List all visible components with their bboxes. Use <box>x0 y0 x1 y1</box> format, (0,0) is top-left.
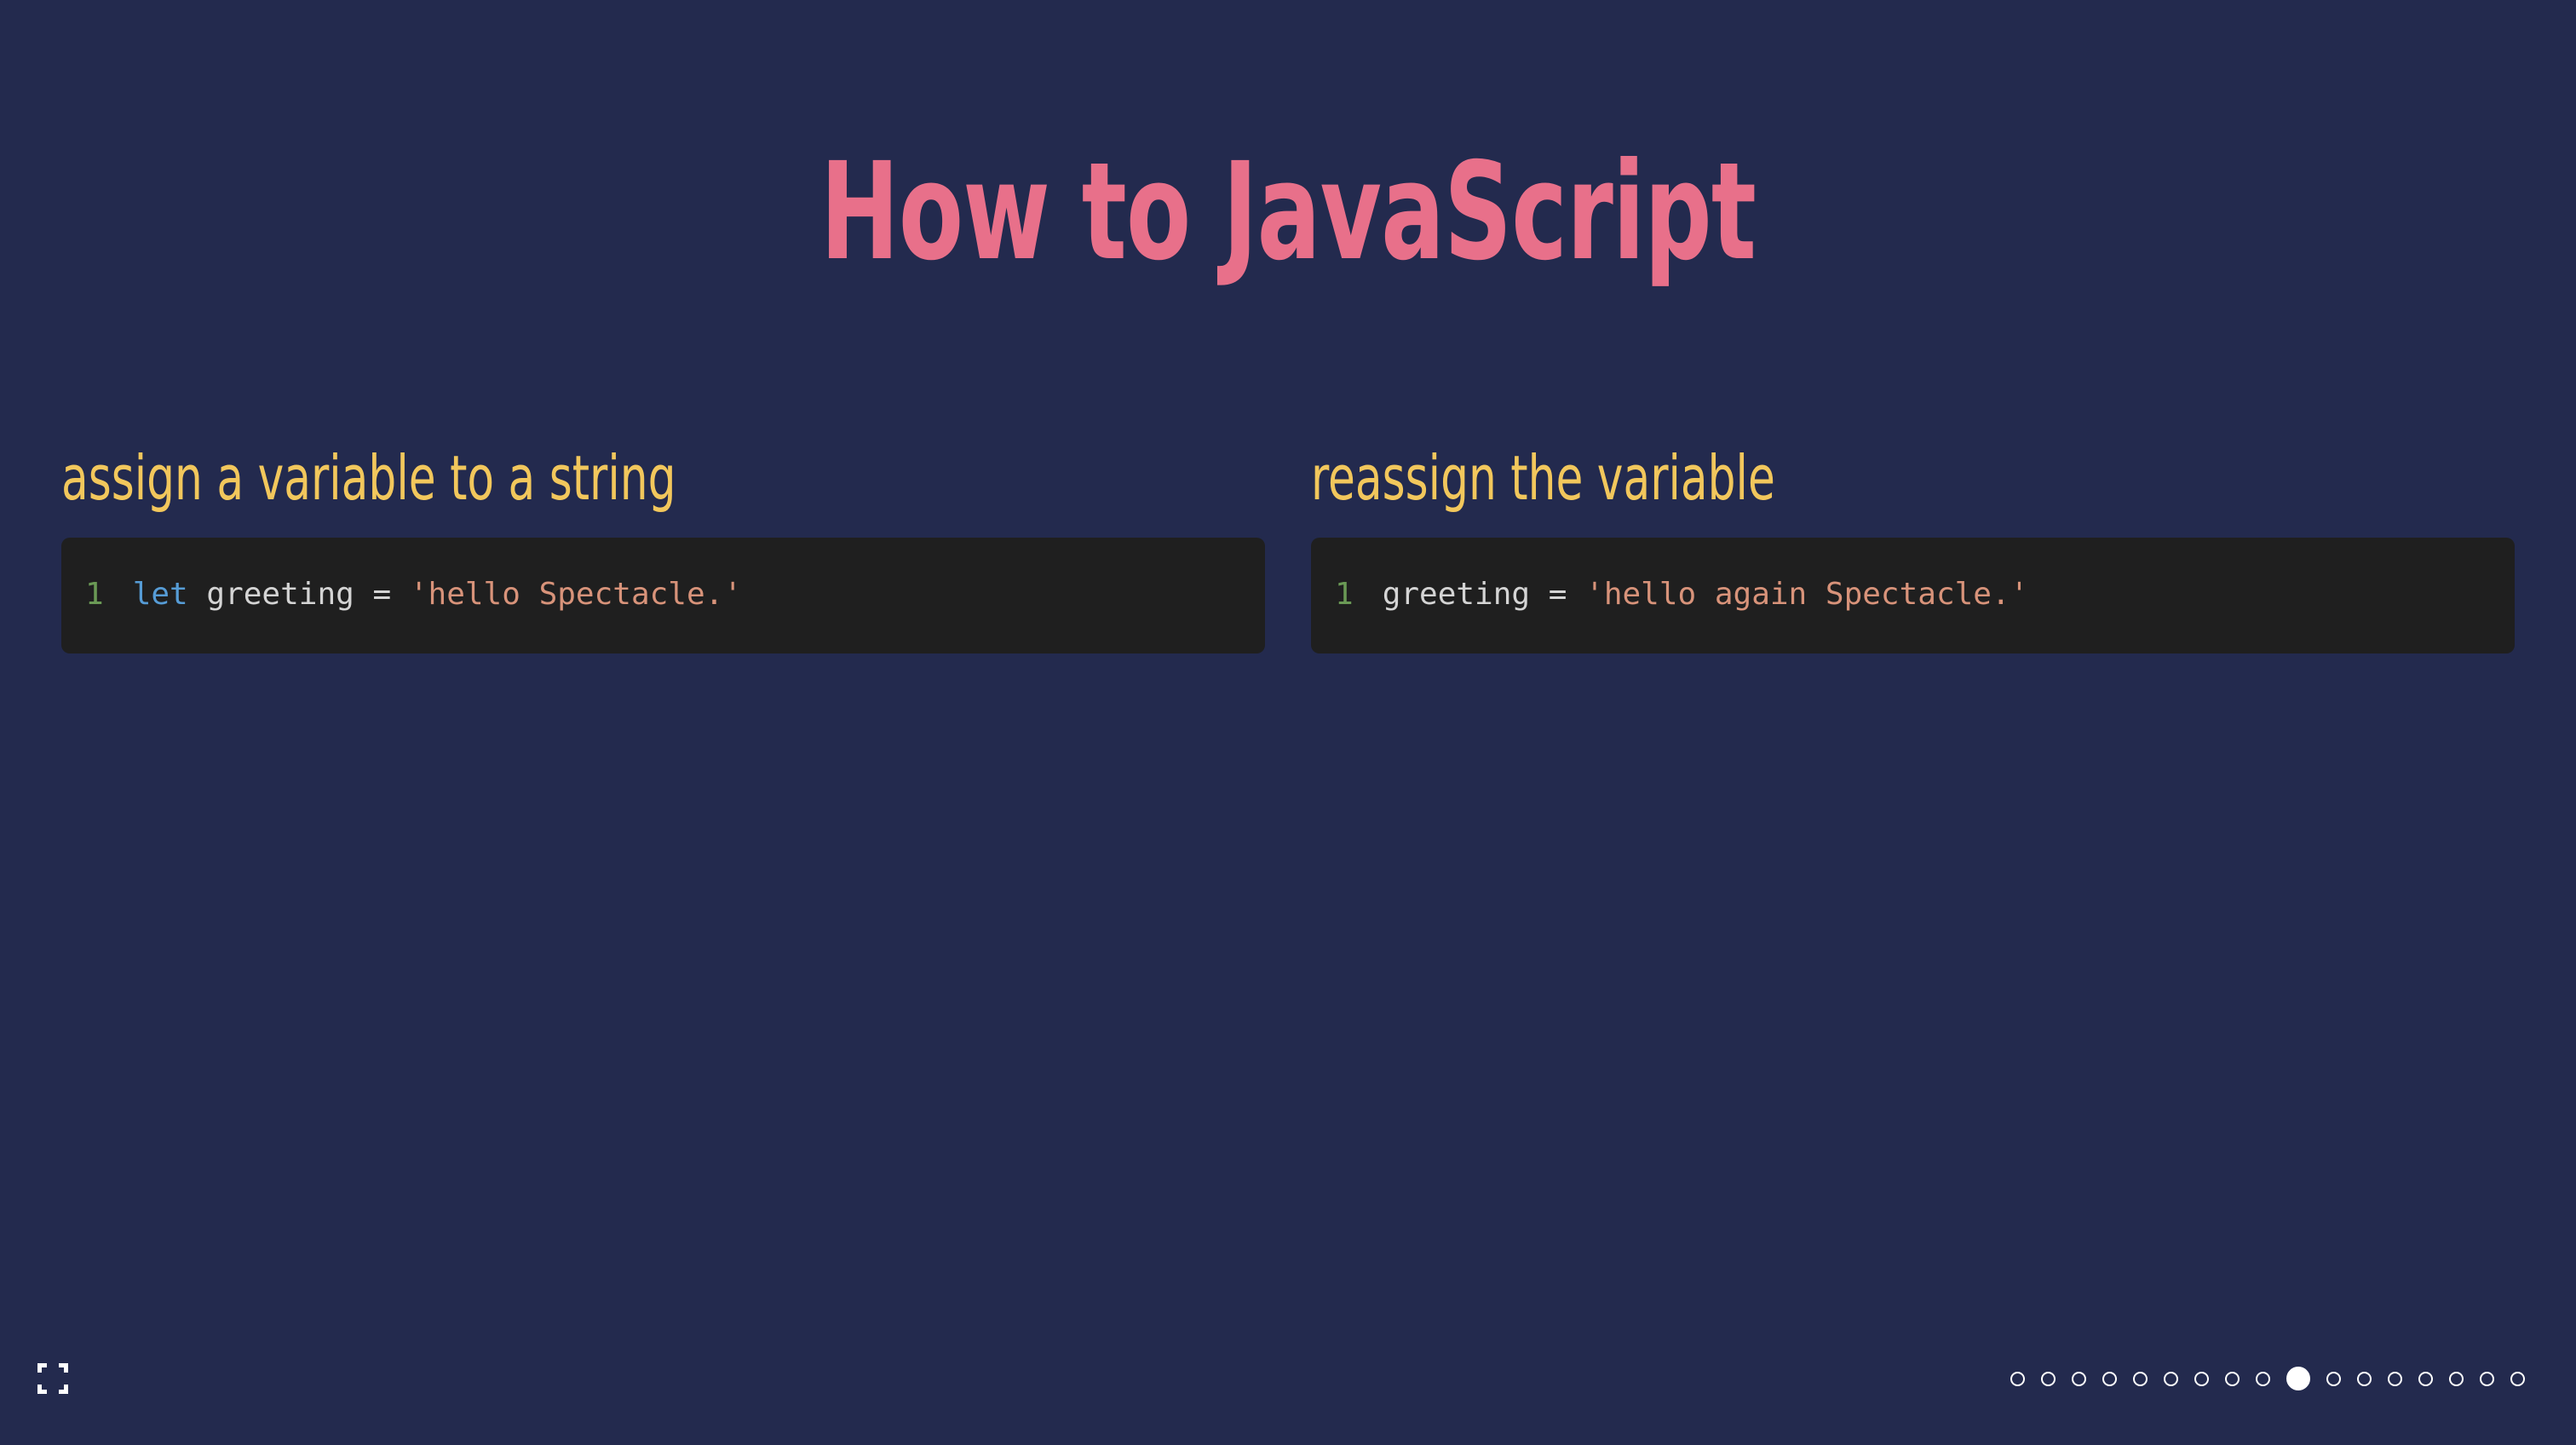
line-number: 1 <box>85 575 104 615</box>
pagination-dot[interactable] <box>2072 1372 2086 1386</box>
code-token-plain <box>1530 577 1549 612</box>
code-token-string: 'hello again Spectacle.' <box>1585 577 2028 612</box>
pagination-dot[interactable] <box>2357 1372 2372 1386</box>
code-token-plain <box>391 577 410 612</box>
column-assign-variable: assign a variable to a string 1 let gree… <box>61 443 1265 653</box>
pagination-dot[interactable] <box>2449 1372 2464 1386</box>
code-line: 1 let greeting = 'hello Spectacle.' <box>85 575 742 615</box>
presentation-slide: How to JavaScript assign a variable to a… <box>0 0 2576 1445</box>
column-reassign-variable: reassign the variable 1 greeting = 'hell… <box>1311 443 2515 653</box>
pagination-dot[interactable] <box>2225 1372 2240 1386</box>
fullscreen-expand-icon <box>36 1362 70 1396</box>
line-number: 1 <box>1335 575 1354 615</box>
page-title: How to JavaScript <box>284 145 2293 279</box>
code-tokens: greeting = 'hello again Spectacle.' <box>1383 575 2029 615</box>
pagination-dot[interactable] <box>2164 1372 2178 1386</box>
code-token-plain <box>1567 577 1585 612</box>
code-token-plain <box>354 577 373 612</box>
code-token-plain <box>188 577 207 612</box>
slide-columns: assign a variable to a string 1 let gree… <box>61 443 2515 653</box>
code-block: 1 greeting = 'hello again Spectacle.' <box>1311 538 2515 653</box>
code-line: 1 greeting = 'hello again Spectacle.' <box>1335 575 2028 615</box>
pagination-dot[interactable] <box>2326 1372 2341 1386</box>
pagination-dot-active[interactable] <box>2286 1367 2310 1390</box>
pagination-dot[interactable] <box>2041 1372 2056 1386</box>
pagination-dot[interactable] <box>2418 1372 2433 1386</box>
pagination-dot[interactable] <box>2256 1372 2270 1386</box>
code-tokens: let greeting = 'hello Spectacle.' <box>133 575 742 615</box>
pagination-dot[interactable] <box>2133 1372 2148 1386</box>
column-heading: assign a variable to a string <box>61 443 1024 514</box>
code-token-operator: = <box>372 577 391 612</box>
code-token-ident: greeting <box>206 577 354 612</box>
pagination-dot[interactable] <box>2388 1372 2402 1386</box>
code-token-ident: greeting <box>1383 577 1530 612</box>
code-token-string: 'hello Spectacle.' <box>410 577 742 612</box>
pagination-dot[interactable] <box>2194 1372 2209 1386</box>
fullscreen-button[interactable] <box>36 1362 70 1396</box>
pagination-dot[interactable] <box>2510 1372 2525 1386</box>
pagination-dot[interactable] <box>2102 1372 2117 1386</box>
code-block: 1 let greeting = 'hello Spectacle.' <box>61 538 1265 653</box>
pagination-dot[interactable] <box>2480 1372 2494 1386</box>
pagination-dot[interactable] <box>2010 1372 2025 1386</box>
code-token-operator: = <box>1549 577 1567 612</box>
column-heading: reassign the variable <box>1311 443 2274 514</box>
slide-pagination[interactable] <box>2010 1362 2525 1396</box>
code-token-keyword: let <box>133 577 188 612</box>
